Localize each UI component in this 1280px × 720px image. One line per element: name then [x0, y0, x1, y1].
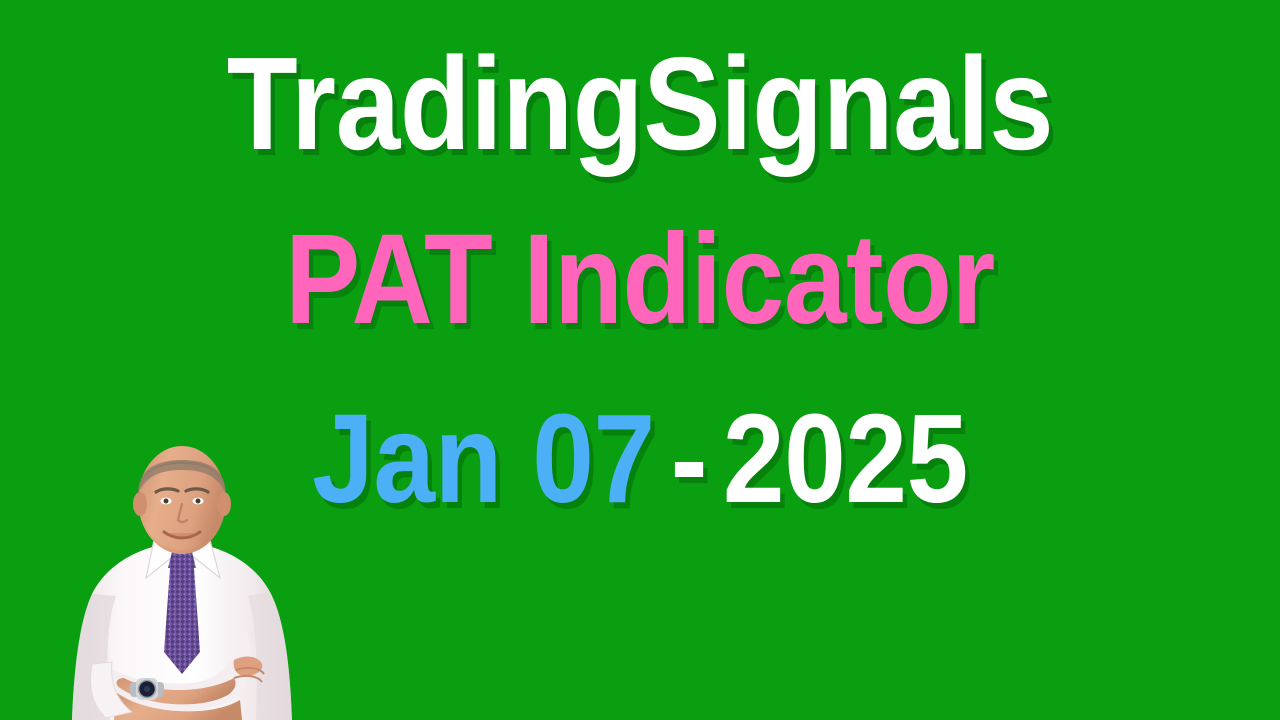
thumbnail-canvas: TradingSignals PAT Indicator Jan 07-2025 [0, 0, 1280, 720]
brand-title: TradingSignals [77, 38, 1203, 170]
presenter-photo [58, 438, 306, 720]
product-title: PAT Indicator [77, 216, 1203, 344]
date-day: Jan 07 [312, 388, 655, 529]
date-separator: - [655, 388, 723, 529]
date-year: 2025 [723, 388, 968, 529]
